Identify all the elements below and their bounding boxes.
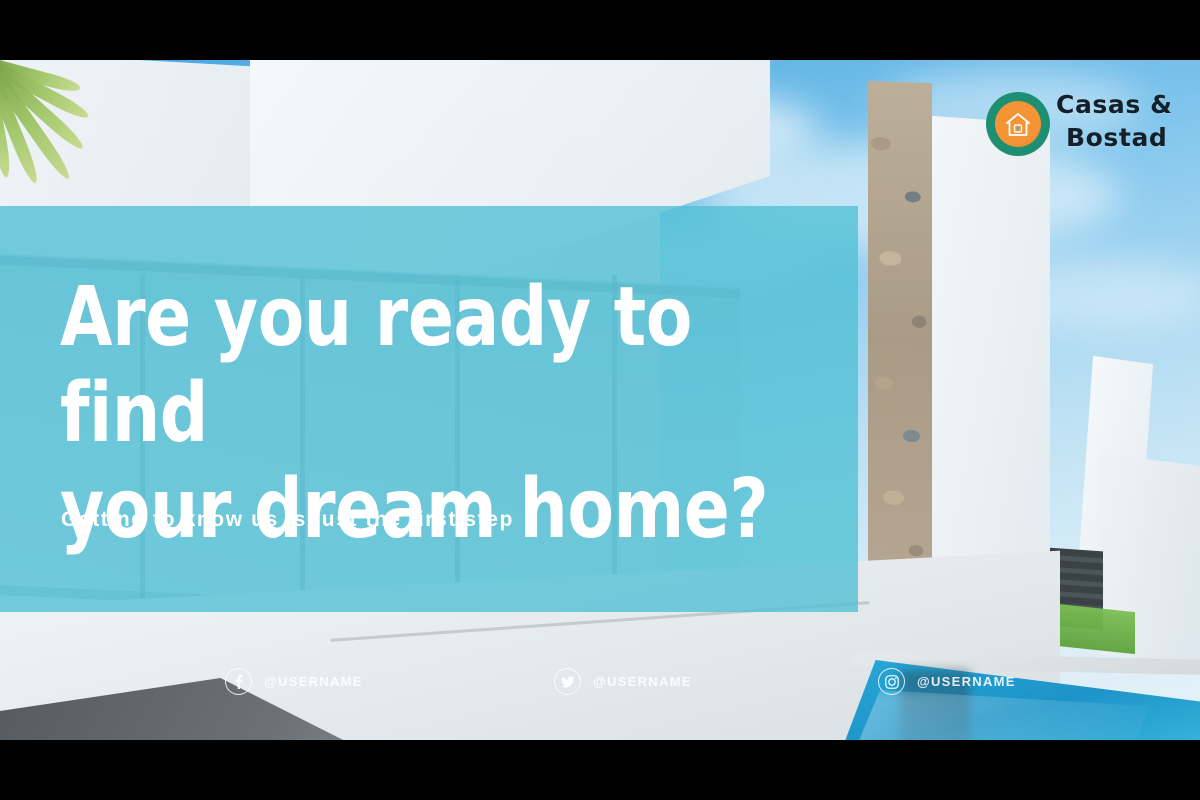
slide-stage: Are you ready to find your dream home? G…	[0, 0, 1200, 800]
logo-badge	[986, 92, 1050, 156]
twitter-icon	[554, 668, 581, 695]
brand-name-line2: Bostad	[1056, 121, 1174, 154]
house-icon	[1005, 112, 1031, 137]
social-handle: @USERNAME	[593, 674, 692, 689]
brand-name-line1: Casas &	[1056, 88, 1174, 121]
social-link-facebook[interactable]: @USERNAME	[225, 668, 363, 695]
instagram-icon	[878, 668, 905, 695]
letterbox-bar-top	[0, 0, 1200, 60]
social-link-twitter[interactable]: @USERNAME	[554, 668, 692, 695]
stone-clad-pillar	[868, 81, 932, 603]
facebook-icon	[225, 668, 252, 695]
letterbox-bar-bottom	[0, 740, 1200, 800]
villa-side-wall	[930, 116, 1050, 594]
brand-wordmark: Casas & Bostad	[1056, 88, 1174, 154]
subtitle: Getting to know us is just the first ste…	[61, 508, 514, 532]
brand-logo[interactable]: Casas & Bostad	[986, 88, 1172, 168]
social-handle: @USERNAME	[264, 674, 363, 689]
social-handle: @USERNAME	[917, 674, 1016, 689]
social-link-instagram[interactable]: @USERNAME	[878, 668, 1016, 695]
social-links-row: @USERNAME @USERNAME @USERNAME	[0, 668, 1200, 704]
